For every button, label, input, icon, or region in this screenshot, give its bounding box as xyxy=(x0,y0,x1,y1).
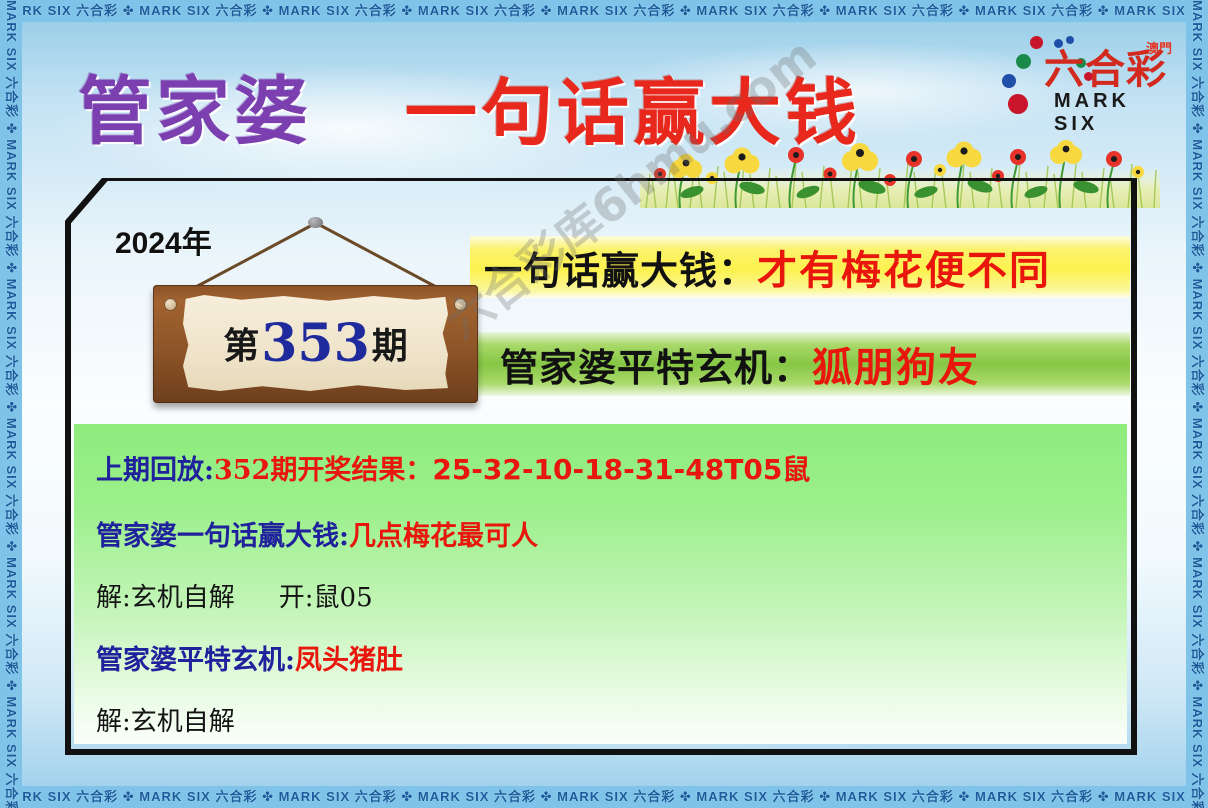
mark-six-logo: 澳門 六合彩 MARK SIX xyxy=(1002,36,1174,116)
border-left-text: MARK SIX 六合彩 ✤ MARK SIX 六合彩 ✤ MARK SIX 六… xyxy=(0,0,22,808)
open-label: 开: xyxy=(279,577,314,614)
last-draw-numbers: 25-32-10-18-31-48T05鼠 xyxy=(432,448,810,488)
border-left: MARK SIX 六合彩 ✤ MARK SIX 六合彩 ✤ MARK SIX 六… xyxy=(0,0,22,808)
solution-1-label: 解:玄机自解 xyxy=(96,577,235,614)
banner-yellow-value: 才有梅花便不同 xyxy=(757,238,1051,296)
banner-yellow-label: 一句话赢大钱： xyxy=(484,240,757,295)
panel-row-solution-2: 解:玄机自解 xyxy=(74,701,1127,738)
title-brand: 管家婆 xyxy=(78,52,312,159)
panel-row-solution-1: 解:玄机自解 开: 鼠05 xyxy=(74,577,1127,614)
sign-issue-number: 353 xyxy=(261,313,370,374)
banner-yellow: 一句话赢大钱： 才有梅花便不同 xyxy=(470,236,1130,298)
banner-green-value: 狐朋狗友 xyxy=(812,335,980,393)
last-draw-title: 352期开奖结果： xyxy=(214,448,432,487)
pingte-value: 凤头猪肚 xyxy=(295,638,403,677)
sign-board: 第 353 期 xyxy=(153,285,478,403)
content-panel: 上期回放: 352期开奖结果： 25-32-10-18-31-48T05鼠 管家… xyxy=(74,424,1127,744)
sign-suffix: 期 xyxy=(372,317,408,369)
border-bottom: MARK SIX 六合彩 ✤ MARK SIX 六合彩 ✤ MARK SIX 六… xyxy=(0,786,1208,808)
header-title: 管家婆 一句话赢大钱 xyxy=(60,46,1150,156)
slogan-value: 几点梅花最可人 xyxy=(349,514,538,553)
logo-english-name: MARK SIX xyxy=(1054,90,1174,136)
border-top-text: MARK SIX 六合彩 ✤ MARK SIX 六合彩 ✤ MARK SIX 六… xyxy=(0,0,1208,22)
panel-row-slogan: 管家婆一句话赢大钱: 几点梅花最可人 xyxy=(74,514,1127,553)
hanging-issue-sign: 第 353 期 xyxy=(140,205,490,410)
sign-paper: 第 353 期 xyxy=(183,295,448,391)
border-right-text: MARK SIX 六合彩 ✤ MARK SIX 六合彩 ✤ MARK SIX 六… xyxy=(1186,0,1208,808)
pingte-label: 管家婆平特玄机: xyxy=(96,638,295,677)
panel-row-last-draw: 上期回放: 352期开奖结果： 25-32-10-18-31-48T05鼠 xyxy=(74,448,1127,488)
panel-row-pingte: 管家婆平特玄机: 凤头猪肚 xyxy=(74,638,1127,677)
title-slogan: 一句话赢大钱 xyxy=(405,54,861,159)
slogan-label: 管家婆一句话赢大钱: xyxy=(96,514,349,553)
banner-green: 管家婆平特玄机： 狐朋狗友 xyxy=(470,332,1130,396)
banner-green-label: 管家婆平特玄机： xyxy=(500,337,812,392)
last-draw-label: 上期回放: xyxy=(96,448,214,487)
sign-hook-icon xyxy=(308,217,323,228)
open-value: 鼠05 xyxy=(314,577,373,614)
border-top: MARK SIX 六合彩 ✤ MARK SIX 六合彩 ✤ MARK SIX 六… xyxy=(0,0,1208,22)
border-bottom-text: MARK SIX 六合彩 ✤ MARK SIX 六合彩 ✤ MARK SIX 六… xyxy=(0,786,1208,808)
logo-chinese-name: 六合彩 xyxy=(1044,50,1167,90)
solution-2-label: 解:玄机自解 xyxy=(96,701,235,738)
sign-prefix: 第 xyxy=(223,317,259,369)
border-right: MARK SIX 六合彩 ✤ MARK SIX 六合彩 ✤ MARK SIX 六… xyxy=(1186,0,1208,808)
poster-canvas: 2024年 第 353 期 管家婆 一句话赢大钱 xyxy=(0,0,1208,808)
